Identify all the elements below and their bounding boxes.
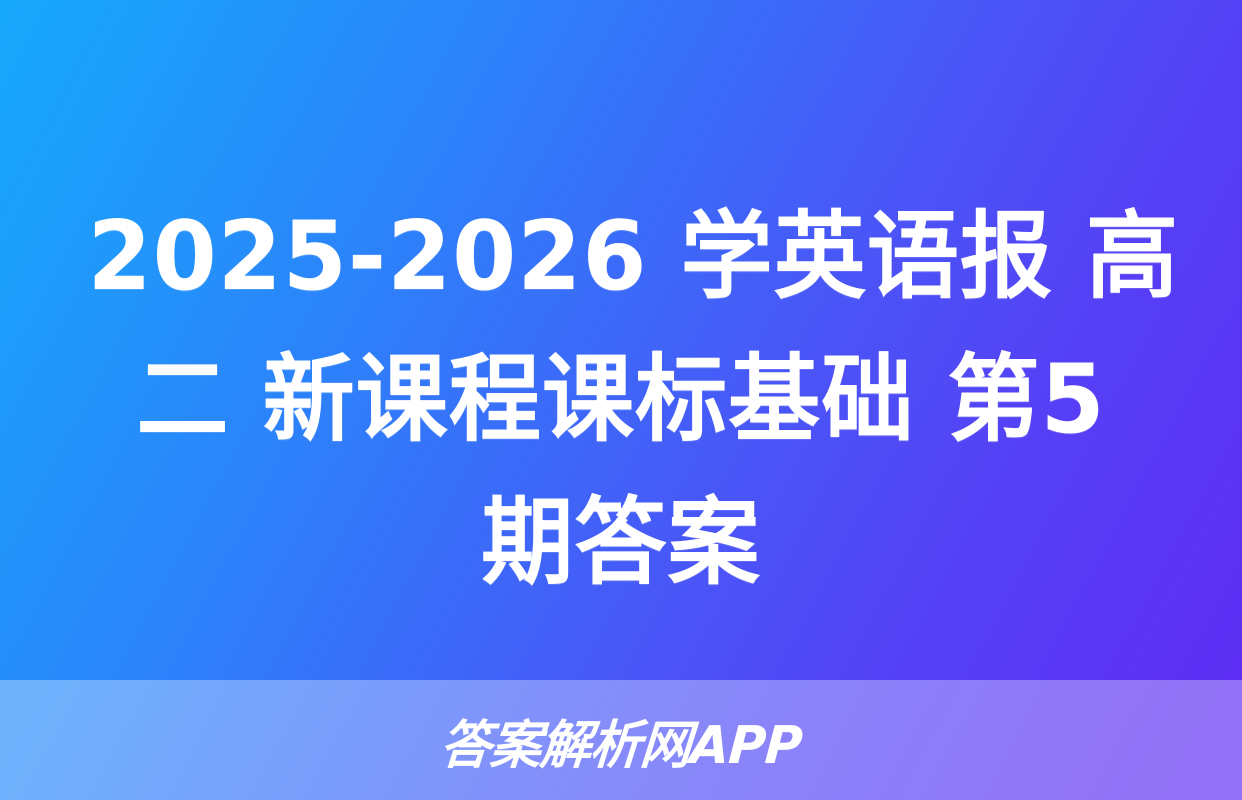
poster-canvas: 2025-2026 学英语报 高 二 新课程课标基础 第5 期答案 答案解析网A… <box>0 0 1242 800</box>
app-watermark-label: 答案解析网APP <box>438 703 804 778</box>
poster-title-line-2: 二 新课程课标基础 第5 <box>88 329 1155 472</box>
poster-title-line-1: 2025-2026 学英语报 高 <box>88 186 1155 329</box>
poster-title-block: 2025-2026 学英语报 高 二 新课程课标基础 第5 期答案 <box>0 186 1242 616</box>
app-watermark: 答案解析网APP <box>0 680 1242 800</box>
poster-title-line-3: 期答案 <box>88 472 1155 615</box>
